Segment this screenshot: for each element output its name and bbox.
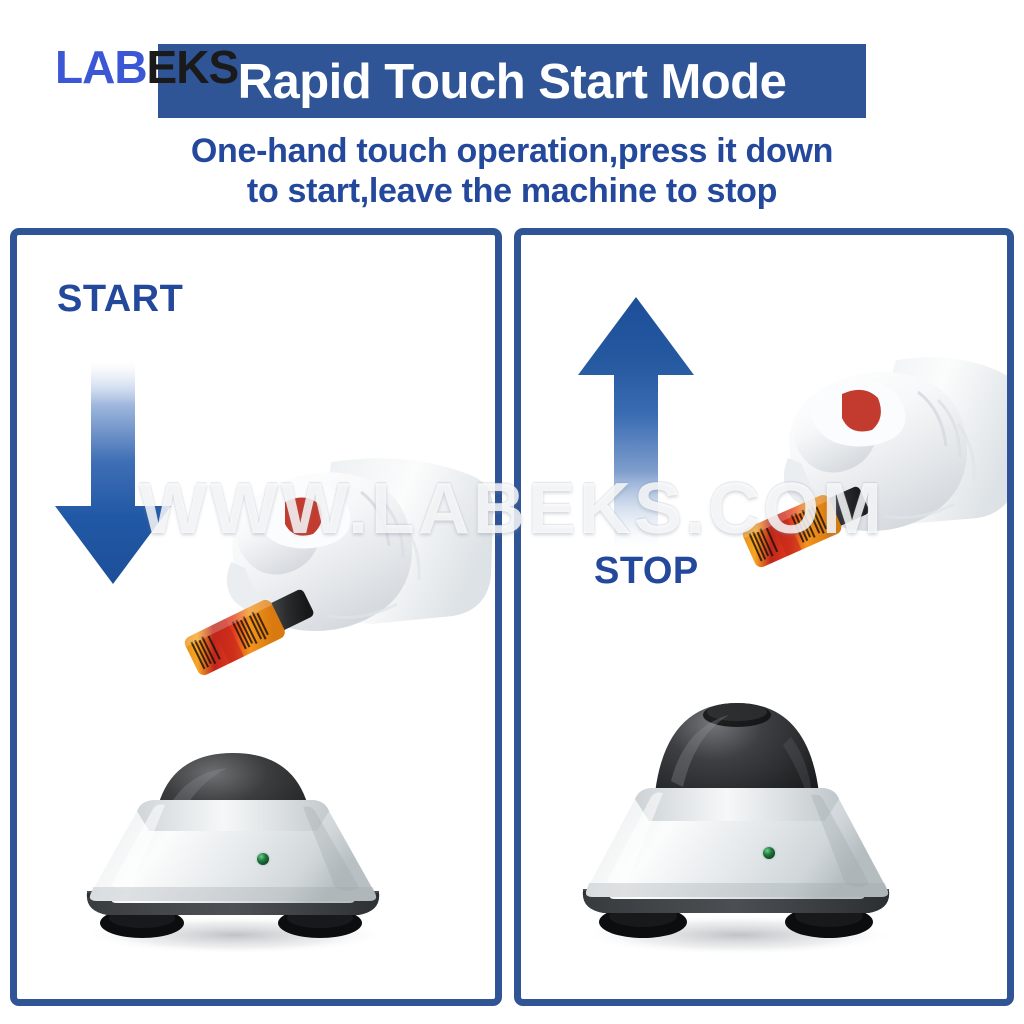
panel-start: START — [10, 228, 502, 1006]
vortex-mixer-device[interactable] — [561, 617, 911, 957]
logo-text-eks: EKS — [147, 41, 239, 93]
title-banner: Rapid Touch Start Mode — [158, 44, 866, 118]
page-subtitle: One-hand touch operation,press it down t… — [0, 132, 1024, 212]
bottle-cap-glimpse — [842, 390, 881, 432]
subtitle-line-2: to start,leave the machine to stop — [0, 172, 1024, 212]
subtitle-line-1: One-hand touch operation,press it down — [191, 132, 833, 170]
bottle-cap-glimpse — [285, 497, 322, 535]
logo-text-lab: LAB — [55, 41, 147, 93]
gloved-hand-pressing — [135, 440, 495, 730]
step-label-start: START — [57, 278, 183, 321]
page-title: Rapid Touch Start Mode — [238, 58, 787, 107]
led-indicator-icon — [763, 847, 775, 859]
arrow-up-icon — [576, 295, 696, 553]
panel-stop: STOP — [514, 228, 1014, 1006]
led-indicator-icon — [257, 853, 269, 865]
step-label-stop: STOP — [594, 550, 699, 593]
brand-logo: LABEKS — [55, 44, 238, 90]
page-header: Rapid Touch Start Mode LABEKS One-hand t… — [0, 0, 1024, 228]
gloved-hand-lifted — [746, 350, 1014, 640]
